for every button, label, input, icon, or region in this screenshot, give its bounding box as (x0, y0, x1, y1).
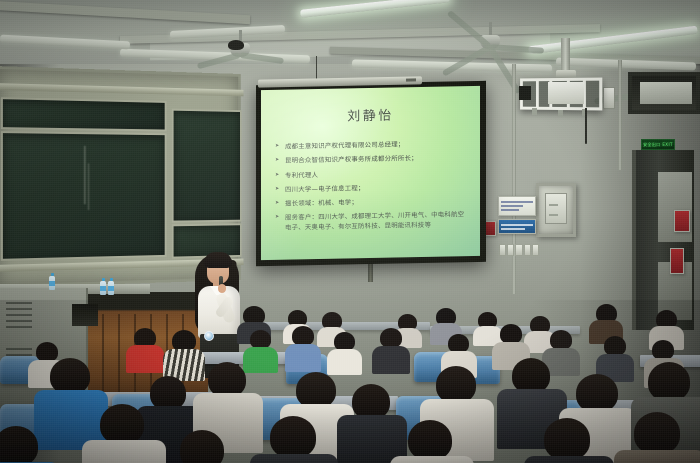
student-torso (126, 345, 164, 373)
audience-area (0, 300, 700, 463)
student-head (150, 376, 186, 410)
screen-housing-label (406, 78, 416, 81)
screen-support-post (368, 262, 373, 282)
student-head (436, 366, 476, 403)
student-head (270, 416, 316, 458)
student-head (500, 324, 522, 344)
student-head (36, 342, 58, 362)
blackboard-panel (1, 97, 167, 131)
light-switch-bank[interactable] (499, 244, 539, 256)
student-head (296, 372, 336, 408)
projector-foot (558, 110, 563, 117)
lecture-hall-photo: 刘静怡 成都主意知识产权代理有限公司总经理； 昆明合众智信知识产权事务所成都分所… (0, 0, 700, 463)
panel-face (545, 193, 567, 224)
slide-bullet: 专利代理人 (275, 168, 470, 181)
student-head (634, 412, 680, 454)
student-torso (614, 450, 700, 463)
projector (548, 82, 584, 104)
water-bottle (100, 281, 106, 295)
presenter-hair (204, 252, 232, 268)
transom-window (628, 72, 700, 114)
blackboard-panel (172, 223, 242, 258)
window-pane (640, 82, 692, 104)
slide-title: 刘静怡 (271, 103, 470, 126)
student-head (604, 336, 626, 356)
student-head (380, 328, 402, 348)
blackboard-panel (1, 131, 167, 261)
water-bottle (49, 276, 55, 290)
slide-bullet: 四川大学—电子信息工程； (275, 182, 470, 195)
projector-lens-icon (519, 86, 531, 100)
fire-equipment-sign (670, 248, 684, 274)
student-torso (524, 456, 614, 463)
student-torso (390, 456, 474, 463)
student-head (352, 384, 390, 419)
slide-bullet: 擅长领域：机械、电学； (275, 196, 470, 209)
student-torso (250, 454, 338, 463)
student-head (208, 362, 246, 397)
student-torso (285, 344, 321, 372)
student-torso (243, 347, 278, 373)
projected-slide: 刘静怡 成都主意知识产权代理有限公司总经理； 昆明合众智信知识产权事务所成都分所… (261, 86, 480, 260)
student-head (648, 362, 690, 401)
electrical-panel[interactable] (536, 183, 576, 237)
slide-bullet: 昆明合众智信知识产权事务所成都分所所长； (275, 153, 470, 166)
slide-bullet-list: 成都主意知识产权代理有限公司总经理； 昆明合众智信知识产权事务所成都分所所长； … (271, 139, 470, 232)
notice-board-white (498, 196, 536, 216)
student-head (292, 326, 314, 346)
student-head (408, 420, 452, 460)
student-head (576, 374, 618, 412)
light-switch[interactable] (524, 244, 531, 256)
student-head (652, 340, 674, 360)
student-torso (82, 440, 166, 463)
warning-sign-red (674, 210, 690, 232)
water-bottle (108, 281, 114, 295)
student-head (180, 430, 224, 463)
notice-board-blue (498, 219, 536, 234)
slide-bullet: 成都主意知识产权代理有限公司总经理； (275, 139, 470, 152)
projector-cable (585, 108, 587, 144)
exit-sign: 安全出口 EXIT (641, 139, 675, 150)
student-head (50, 358, 90, 394)
light-switch[interactable] (499, 244, 506, 256)
student-torso (372, 346, 410, 374)
student-torso (327, 349, 362, 375)
light-switch[interactable] (515, 244, 522, 256)
wall-conduit-pipe (512, 64, 516, 294)
slide-bullet: 服务客户：四川大学、成都理工大学、川开电气、中电科航空电子、天奥电子、有尔互防科… (275, 211, 470, 233)
slide-content: 刘静怡 成都主意知识产权代理有限公司总经理； 昆明合众智信知识产权事务所成都分所… (261, 86, 480, 260)
projection-screen: 刘静怡 成都主意知识产权代理有限公司总经理； 昆明合众智信知识产权事务所成都分所… (256, 81, 486, 266)
light-switch[interactable] (507, 244, 514, 256)
presenter-hand (218, 284, 226, 293)
projector-mount-pipe (561, 38, 570, 74)
student-head (544, 418, 590, 460)
student-head (512, 358, 550, 393)
student-head (100, 404, 144, 444)
blackboard-rail (0, 83, 243, 96)
projector-foot (532, 108, 537, 115)
student-head (550, 330, 572, 350)
blackboard-panel (172, 109, 242, 223)
wall-conduit-pipe (618, 60, 622, 170)
wall-junction-box (603, 87, 615, 109)
ceiling-sensor-icon (228, 40, 244, 50)
ceiling-beam (0, 1, 250, 25)
light-switch[interactable] (532, 244, 539, 256)
blackboard (0, 66, 241, 288)
exit-sign-label: 安全出口 EXIT (643, 142, 673, 148)
